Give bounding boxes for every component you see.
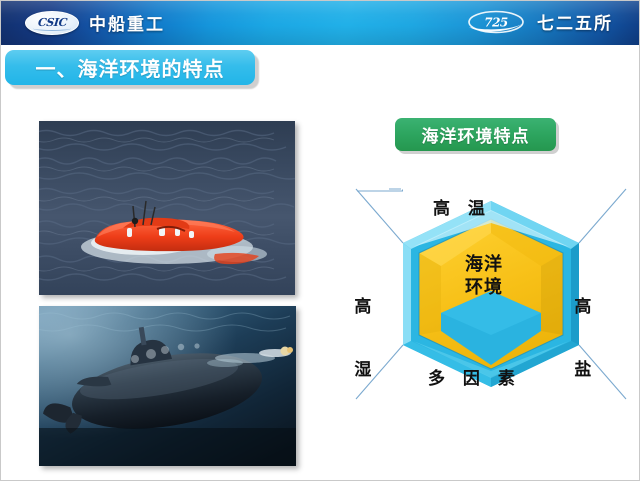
institute-725-logo-group: 725 七二五所 [467, 9, 613, 34]
diagram-rays [357, 189, 404, 192]
slide-header-band: CSIC 中船重工 725 七二五所 [1, 1, 640, 45]
diagram-label-high-temperature: 高 温 [433, 199, 491, 220]
diagram-label-high-humidity: 高 湿 [351, 254, 375, 424]
diagram-label-high-salinity: 高 盐 [571, 254, 595, 424]
diagram-label-high-humidity-line-1: 高 [351, 297, 375, 318]
hexagon-center-line-2: 环境 [441, 276, 527, 299]
svg-text:725: 725 [484, 15, 508, 29]
green-label-pill: 海洋环境特点 [395, 118, 556, 151]
diagram-label-high-humidity-line-2: 湿 [351, 360, 375, 381]
csic-logo-text: CSIC [37, 16, 67, 29]
hexagon-center-line-1: 海洋 [441, 253, 527, 276]
csic-brand-name: 中船重工 [89, 10, 165, 35]
725-swoosh-logo-icon: 725 [467, 10, 525, 34]
photo-manned-submersible-surface [39, 121, 295, 295]
green-label-text: 海洋环境特点 [422, 122, 530, 147]
diagram-label-multi-factor: 多 因 素 [428, 369, 521, 390]
section-title-pill: 一、海洋环境的特点 [5, 50, 255, 85]
section-title-text: 一、海洋环境的特点 [36, 53, 225, 82]
csic-logo-group: CSIC 中船重工 [25, 10, 165, 35]
green-label-container: 海洋环境特点 [395, 118, 556, 151]
csic-oval-logo-icon: CSIC [25, 11, 79, 35]
diagram-label-high-salinity-line-2: 盐 [571, 360, 595, 381]
institute-725-brand-name: 七二五所 [537, 9, 613, 34]
slide-canvas: CSIC 中船重工 725 七二五所 一、海洋环境的特点 [0, 0, 640, 481]
section-title-container: 一、海洋环境的特点 [5, 50, 255, 85]
photo-submarine-firing-torpedo [39, 306, 296, 466]
diagram-label-high-salinity-line-1: 高 [571, 297, 595, 318]
hexagon-center-label: 海洋 环境 [441, 253, 527, 300]
